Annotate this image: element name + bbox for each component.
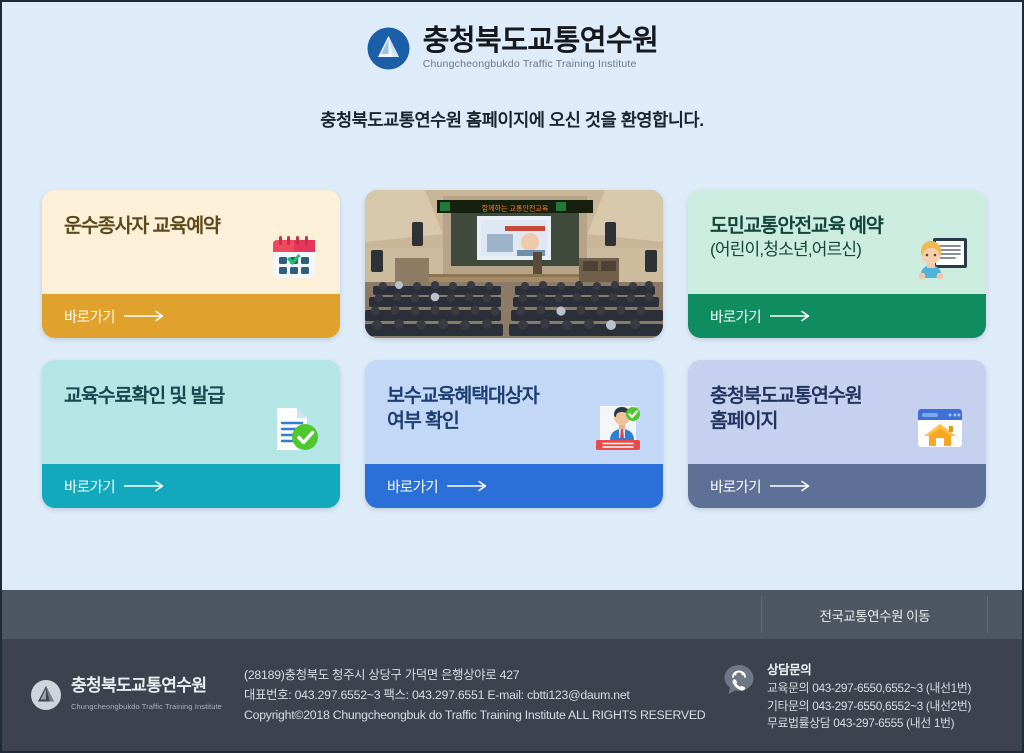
card-body: 충청북도교통연수원 홈페이지 (688, 360, 986, 464)
card-body: 운수종사자 교육예약 (42, 190, 340, 294)
footer-brand-en: Chungcheongbukdo Traffic Training Instit… (71, 702, 222, 711)
card-body: 교육수료확인 및 발급 (42, 360, 340, 464)
footer-address-line-2: 대표번호: 043.297.6552~3 팩스: 043.297.6551 E-… (244, 685, 722, 705)
site-footer: 충청북도교통연수원 Chungcheongbukdo Traffic Train… (2, 639, 1022, 751)
quick-link-grid: 운수종사자 교육예약 (42, 190, 986, 508)
card-link-footer[interactable]: 바로가기 (365, 464, 663, 508)
card-resident-safety-education-reservation[interactable]: 도민교통안전교육 예약 (어린이,청소년,어르신) (688, 190, 986, 338)
card-certificate-issue[interactable]: 교육수료확인 및 발급 (42, 360, 340, 508)
card-link-footer[interactable]: 바로가기 (688, 294, 986, 338)
footer-contact-other: 기타문의 043-297-6550,6552~3 (내선2번) (767, 698, 971, 716)
card-link-label: 바로가기 (387, 476, 438, 497)
card-institute-homepage[interactable]: 충청북도교통연수원 홈페이지 (688, 360, 986, 508)
card-transport-worker-reservation[interactable]: 운수종사자 교육예약 (42, 190, 340, 338)
card-subtitle: (어린이,청소년,어르신) (710, 239, 966, 261)
arrow-right-icon (770, 480, 816, 492)
card-title: 도민교통안전교육 예약 (710, 214, 966, 239)
footer-utility-bar: 전국교통연수원 이동 (2, 590, 1022, 639)
footer-contact-legal: 무료법률상담 043-297-6555 (내선 1번) (767, 715, 971, 733)
card-title: 보수교육혜택대상자 여부 확인 (387, 384, 643, 434)
lecture-hall-photo[interactable]: 함께하는 교통안전교육 (365, 190, 663, 338)
footer-address-line-1: (28189)충청북도 청주시 상당구 가덕면 은행상야로 427 (244, 665, 722, 685)
arrow-right-icon (770, 310, 816, 322)
card-title: 교육수료확인 및 발급 (64, 384, 320, 409)
footer-address-block: (28189)충청북도 청주시 상당구 가덕면 은행상야로 427 대표번호: … (240, 665, 722, 725)
footer-logo[interactable]: 충청북도교통연수원 Chungcheongbukdo Traffic Train… (30, 677, 240, 714)
nationwide-institutes-link[interactable]: 전국교통연수원 이동 (761, 590, 988, 639)
card-link-footer[interactable]: 바로가기 (42, 464, 340, 508)
certificate-check-icon (265, 402, 323, 456)
arrow-right-icon (447, 480, 493, 492)
card-body: 도민교통안전교육 예약 (어린이,청소년,어르신) (688, 190, 986, 294)
arrow-right-icon (124, 480, 170, 492)
site-header: 충청북도교통연수원 Chungcheongbukdo Traffic Train… (2, 2, 1022, 132)
card-link-label: 바로가기 (64, 476, 115, 497)
arrow-right-icon (124, 310, 170, 322)
calendar-check-icon (265, 232, 323, 286)
card-link-label: 바로가기 (64, 306, 115, 327)
card-link-footer[interactable]: 바로가기 (42, 294, 340, 338)
footer-copyright: Copyright©2018 Chungcheongbuk do Traffic… (244, 705, 722, 725)
header-brand-ko: 충청북도교통연수원 (423, 27, 659, 56)
header-brand-en: Chungcheongbukdo Traffic Training Instit… (423, 59, 659, 70)
header-logo[interactable]: 충청북도교통연수원 Chungcheongbukdo Traffic Train… (366, 26, 659, 71)
cbtti-emblem-icon (366, 26, 411, 71)
card-title: 운수종사자 교육예약 (64, 214, 320, 239)
footer-brand-ko: 충청북도교통연수원 (71, 676, 206, 695)
footer-contact-block: 상담문의 교육문의 043-297-6550,6552~3 (내선1번) 기타문… (722, 657, 1022, 734)
footer-contact-education: 교육문의 043-297-6550,6552~3 (내선1번) (767, 680, 971, 698)
cbtti-emblem-icon (30, 679, 62, 711)
card-body: 보수교육혜택대상자 여부 확인 (365, 360, 663, 464)
card-link-footer[interactable]: 바로가기 (688, 464, 986, 508)
card-refresher-education-eligibility[interactable]: 보수교육혜택대상자 여부 확인 (365, 360, 663, 508)
card-link-label: 바로가기 (710, 476, 761, 497)
phone-bubble-icon (722, 663, 756, 697)
nationwide-institutes-label: 전국교통연수원 이동 (819, 605, 930, 625)
card-title: 충청북도교통연수원 홈페이지 (710, 384, 966, 434)
svg-text:함께하는 교통안전교육: 함께하는 교통안전교육 (482, 204, 549, 213)
card-link-label: 바로가기 (710, 306, 761, 327)
footer-contact-title: 상담문의 (767, 659, 971, 678)
welcome-message: 충청북도교통연수원 홈페이지에 오신 것을 환영합니다. (320, 107, 703, 132)
page-root: 충청북도교통연수원 Chungcheongbukdo Traffic Train… (0, 0, 1024, 753)
